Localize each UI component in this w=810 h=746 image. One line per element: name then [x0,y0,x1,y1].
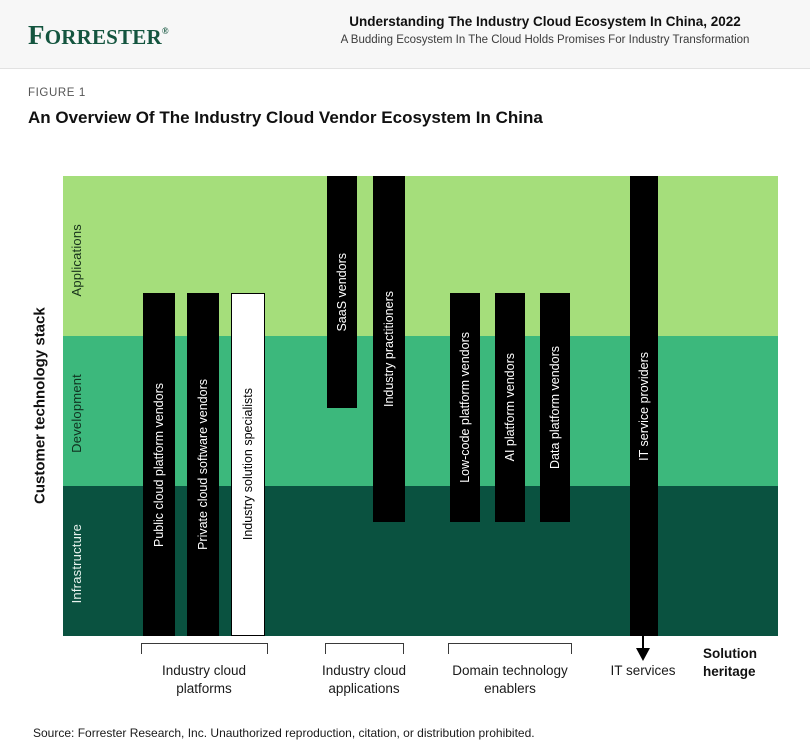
vendor-bar-label: Data platform vendors [549,346,562,469]
group-label-line1: Domain technology [431,662,589,680]
group-label-line2: applications [285,680,443,698]
page-header: FORRESTER® Understanding The Industry Cl… [0,0,810,69]
arrow-head [636,648,650,661]
group-label-line1: Industry cloud [125,662,283,680]
stack-band-label-applications: Applications [69,224,84,297]
group-label-domain-technology-enablers: Domain technology enablers [431,662,589,698]
vendor-bar-label: Public cloud platform vendors [153,383,166,547]
it-services-arrow-icon [634,636,652,662]
group-label-line1: IT services [584,662,702,680]
vendor-bar-ai-platform-vendors[interactable]: AI platform vendors [495,293,525,522]
vendor-bar-label: IT service providers [638,352,651,461]
header-titles: Understanding The Industry Cloud Ecosyst… [300,12,790,50]
solution-heritage-line1: Solution [703,645,803,663]
vendor-bar-industry-solution-specialists[interactable]: Industry solution specialists [231,293,265,636]
group-label-line2: enablers [431,680,589,698]
vendor-bar-label: AI platform vendors [504,353,517,461]
vendor-bar-saas-vendors[interactable]: SaaS vendors [327,176,357,408]
vendor-bar-private-cloud-software-vendors[interactable]: Private cloud software vendors [187,293,219,636]
vendor-bar-public-cloud-platform-vendors[interactable]: Public cloud platform vendors [143,293,175,636]
group-label-line2: platforms [125,680,283,698]
vendor-bar-it-service-providers[interactable]: IT service providers [630,176,658,636]
stack-band-label-infrastructure: Infrastructure [69,524,84,603]
vendor-bar-label: Low-code platform vendors [459,332,472,483]
report-title: Understanding The Industry Cloud Ecosyst… [300,12,790,32]
logo-wordmark: ORRESTER [45,25,162,49]
vendor-bar-label: Industry practitioners [383,291,396,407]
vendor-bar-industry-practitioners[interactable]: Industry practitioners [373,176,405,522]
group-label-industry-cloud-applications: Industry cloud applications [285,662,443,698]
stack-band-label-development: Development [69,374,84,453]
source-note: Source: Forrester Research, Inc. Unautho… [33,726,535,740]
y-axis-title: Customer technology stack [28,176,52,636]
chart-area: Applications Development Infrastructure … [63,176,778,636]
report-subtitle: A Budding Ecosystem In The Cloud Holds P… [300,32,790,49]
solution-heritage-line2: heritage [703,663,803,681]
vendor-bar-data-platform-vendors[interactable]: Data platform vendors [540,293,570,522]
vendor-bar-label: Private cloud software vendors [197,379,210,550]
figure-title: An Overview Of The Industry Cloud Vendor… [28,108,543,128]
vendor-bar-low-code-platform-vendors[interactable]: Low-code platform vendors [450,293,480,522]
vendor-bar-label: SaaS vendors [336,253,349,332]
registered-trademark-icon: ® [162,26,169,36]
group-label-industry-cloud-platforms: Industry cloud platforms [125,662,283,698]
group-bracket-industry-cloud-platforms [141,643,268,654]
group-label-line1: Industry cloud [285,662,443,680]
x-axis-title-solution-heritage: Solution heritage [703,645,803,681]
group-bracket-domain-technology-enablers [448,643,572,654]
figure-number: FIGURE 1 [28,87,86,99]
vendor-bar-label: Industry solution specialists [242,388,255,540]
logo-initial: F [28,20,45,50]
forrester-logo: FORRESTER® [28,22,169,49]
group-label-it-services: IT services [584,662,702,680]
group-bracket-industry-cloud-applications [325,643,404,654]
